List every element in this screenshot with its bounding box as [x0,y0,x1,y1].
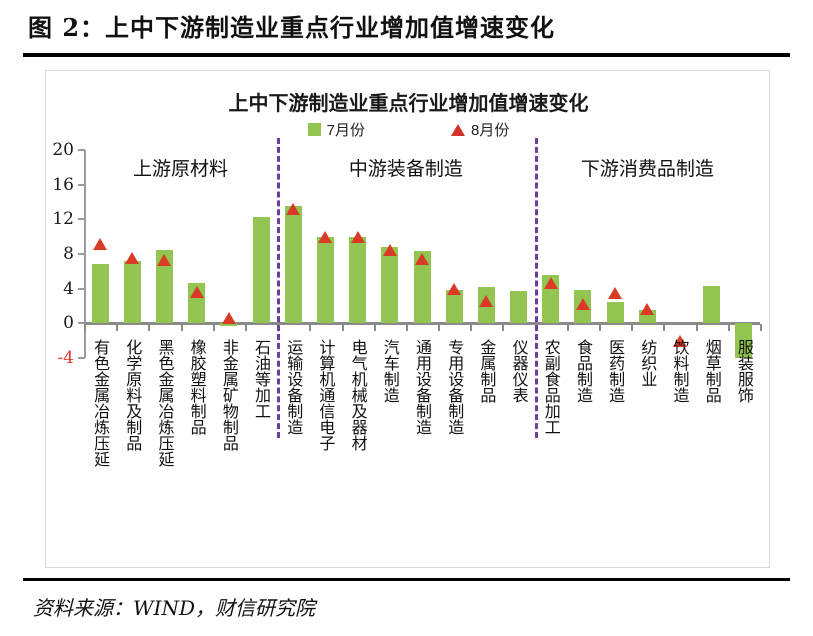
x-axis-tick [342,324,344,331]
bar-july [703,286,720,323]
bar-july [124,261,141,323]
y-axis-tick [78,357,85,359]
x-axis-label: 纺织业 [635,339,659,387]
x-axis-label: 黑色金属冶炼压延 [152,339,176,467]
y-axis-label: 8 [63,244,74,264]
x-axis-tick [663,324,665,331]
x-axis-tick [116,324,118,331]
marker-august [190,286,204,298]
marker-august [93,238,107,250]
bar-july [92,264,109,323]
x-axis-label: 运输设备制造 [281,339,305,435]
marker-august [222,312,236,324]
source-note: 资料来源：WIND，财信研究院 [33,592,733,626]
x-axis-label: 饮料制造 [668,339,692,403]
x-axis-tick [696,324,698,331]
y-axis-label: 4 [63,279,74,299]
bar-july [349,237,366,324]
x-axis-label: 汽车制造 [378,339,402,403]
x-axis-label: 通用设备制造 [410,339,434,435]
y-axis-tick [78,253,85,255]
y-axis-tick [78,149,85,151]
x-axis-label: 专用设备制造 [442,339,466,435]
y-axis-label: -4 [57,348,74,368]
x-axis-label: 石油等加工 [249,339,273,419]
y-axis-label: 16 [52,175,74,195]
x-axis-label: 有色金属冶炼压延 [88,339,112,467]
marker-august [640,303,654,315]
marker-august [608,287,622,299]
section-label: 上游原材料 [133,154,228,181]
marker-august [318,231,332,243]
legend-triangle-icon [451,124,465,136]
chart-legend: 7月份 8月份 [46,119,771,140]
x-axis-label: 医药制造 [603,339,627,403]
legend-label-july: 7月份 [327,119,365,140]
section-divider [535,138,538,438]
x-axis-tick [84,324,86,331]
bar-july [253,217,270,324]
y-axis-tick [78,218,85,220]
x-axis-label: 非金属矿物制品 [217,339,241,451]
figure-heading: 图 2：上中下游制造业重点行业增加值增速变化 [28,8,788,48]
heading-divider [23,53,790,57]
x-axis-tick [438,324,440,331]
marker-august [447,283,461,295]
x-axis-label: 服装服饰 [732,339,756,403]
x-axis-tick [567,324,569,331]
x-axis-label: 化学原料及制品 [120,339,144,451]
figure-page: 图 2：上中下游制造业重点行业增加值增速变化 上中下游制造业重点行业增加值增速变… [0,0,813,636]
x-axis-tick [406,324,408,331]
marker-august [544,277,558,289]
y-axis-label: 0 [63,313,74,333]
y-axis-tick [78,288,85,290]
x-axis-label: 计算机通信电子 [313,339,337,451]
section-label: 下游消费品制造 [581,154,714,181]
bar-july [607,302,624,324]
marker-august [351,231,365,243]
x-axis-tick [760,324,762,331]
x-axis-label: 金属制品 [474,339,498,403]
marker-august [286,203,300,215]
chart-title: 上中下游制造业重点行业增加值增速变化 [46,87,771,116]
marker-august [125,252,139,264]
marker-august [383,244,397,256]
x-axis-tick [181,324,183,331]
x-axis-label: 电气机械及器材 [346,339,370,451]
legend-label-august: 8月份 [471,119,509,140]
x-axis-label: 食品制造 [571,339,595,403]
bar-july [510,291,527,323]
x-axis-tick [374,324,376,331]
marker-august [157,254,171,266]
x-axis-label: 烟草制品 [700,339,724,403]
legend-item-july: 7月份 [308,119,365,140]
x-axis-tick [245,324,247,331]
x-axis-tick [502,324,504,331]
marker-august [415,253,429,265]
bar-july [317,237,334,324]
x-axis-tick [728,324,730,331]
x-axis-tick [309,324,311,331]
y-axis-tick [78,184,85,186]
marker-august [576,298,590,310]
x-axis-tick [631,324,633,331]
marker-august [479,295,493,307]
chart-frame: 上中下游制造业重点行业增加值增速变化 7月份 8月份 201612840-4有色… [45,70,770,568]
plot-area: 201612840-4有色金属冶炼压延化学原料及制品黑色金属冶炼压延橡胶塑料制品… [84,150,760,440]
footer-divider [23,578,790,581]
x-axis-tick [470,324,472,331]
section-label: 中游装备制造 [349,154,463,181]
x-axis-label: 橡胶塑料制品 [185,339,209,435]
x-axis-tick [148,324,150,331]
x-axis-label: 仪器仪表 [507,339,531,403]
bar-july [285,206,302,323]
section-divider [277,138,280,438]
x-axis-tick [599,324,601,331]
legend-square-icon [308,123,321,136]
x-axis-tick [213,324,215,331]
y-axis-label: 20 [52,140,74,160]
bar-july [381,247,398,323]
legend-item-august: 8月份 [451,119,509,140]
x-axis-label: 农副食品加工 [539,339,563,435]
y-axis-label: 12 [52,209,74,229]
